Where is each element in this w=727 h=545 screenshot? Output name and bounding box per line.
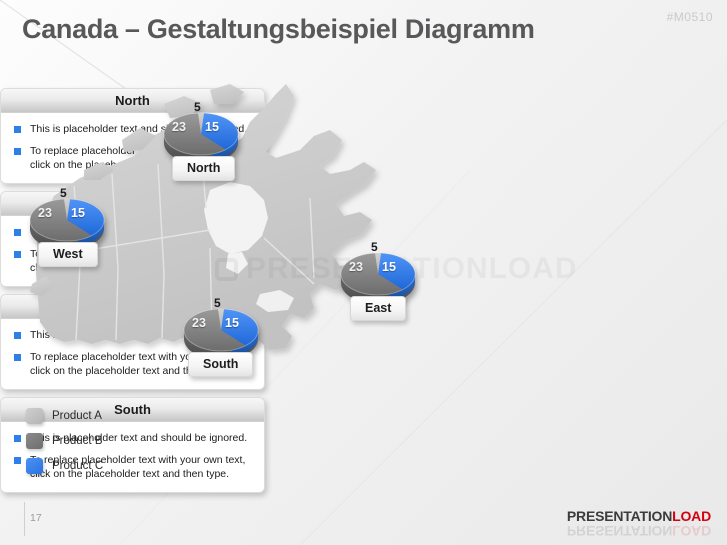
- pie-value-product-c: 15: [205, 120, 219, 134]
- legend-swatch-product-a: [26, 408, 43, 424]
- legend-item-product-a[interactable]: Product A: [26, 408, 103, 424]
- bullet-square-icon: [14, 457, 21, 464]
- map-label-west[interactable]: West: [38, 242, 98, 267]
- legend-label-product-c: Product C: [52, 460, 103, 472]
- chart-legend: Product A Product B Product C: [26, 408, 103, 483]
- pie-chart-north[interactable]: 23 15 5: [160, 104, 242, 160]
- pie-chart-west[interactable]: 23 15 5: [26, 190, 108, 246]
- legend-item-product-b[interactable]: Product B: [26, 433, 103, 449]
- legend-label-product-a: Product A: [52, 410, 102, 422]
- legend-label-product-b: Product B: [52, 435, 103, 447]
- legend-item-product-c[interactable]: Product C: [26, 458, 103, 474]
- page-title: Canada – Gestaltungsbeispiel Diagramm: [22, 14, 535, 45]
- map-marker-north[interactable]: 23 15 5 North: [160, 104, 242, 160]
- template-code: #M0510: [667, 10, 713, 24]
- map-label-north[interactable]: North: [172, 156, 235, 181]
- pie-chart-south[interactable]: 23 15 5: [180, 300, 262, 356]
- legend-swatch-product-b: [26, 433, 43, 449]
- brand-logo-part1: PRESENTATION: [567, 508, 672, 524]
- map-marker-east[interactable]: 23 15 5 East: [337, 244, 419, 300]
- pie-value-product-a: 5: [194, 100, 201, 114]
- pie-value-product-c: 15: [382, 260, 396, 274]
- pie-value-product-b: 23: [349, 260, 363, 274]
- pie-value-product-a: 5: [371, 240, 378, 254]
- pie-value-product-b: 23: [192, 316, 206, 330]
- pie-value-product-b: 23: [172, 120, 186, 134]
- brand-logo-part2: LOAD: [672, 508, 711, 524]
- map-marker-west[interactable]: 23 15 5 West: [26, 190, 108, 246]
- legend-swatch-product-c: [26, 458, 43, 474]
- pie-value-product-a: 5: [60, 186, 67, 200]
- page-number: 17: [30, 512, 42, 524]
- pie-chart-east[interactable]: 23 15 5: [337, 244, 419, 300]
- pie-value-product-c: 15: [225, 316, 239, 330]
- brand-logo: PRESENTATIONLOAD: [567, 508, 711, 524]
- map-marker-south[interactable]: 23 15 5 South: [180, 300, 262, 356]
- map-label-south[interactable]: South: [188, 352, 253, 377]
- pie-value-product-b: 23: [38, 206, 52, 220]
- pie-value-product-c: 15: [71, 206, 85, 220]
- brand-logo-reflection: PRESENTATIONLOAD: [567, 523, 711, 539]
- bullet-square-icon: [14, 435, 21, 442]
- pie-value-product-a: 5: [214, 296, 221, 310]
- map-label-east[interactable]: East: [350, 296, 406, 321]
- footer-divider: [24, 502, 25, 536]
